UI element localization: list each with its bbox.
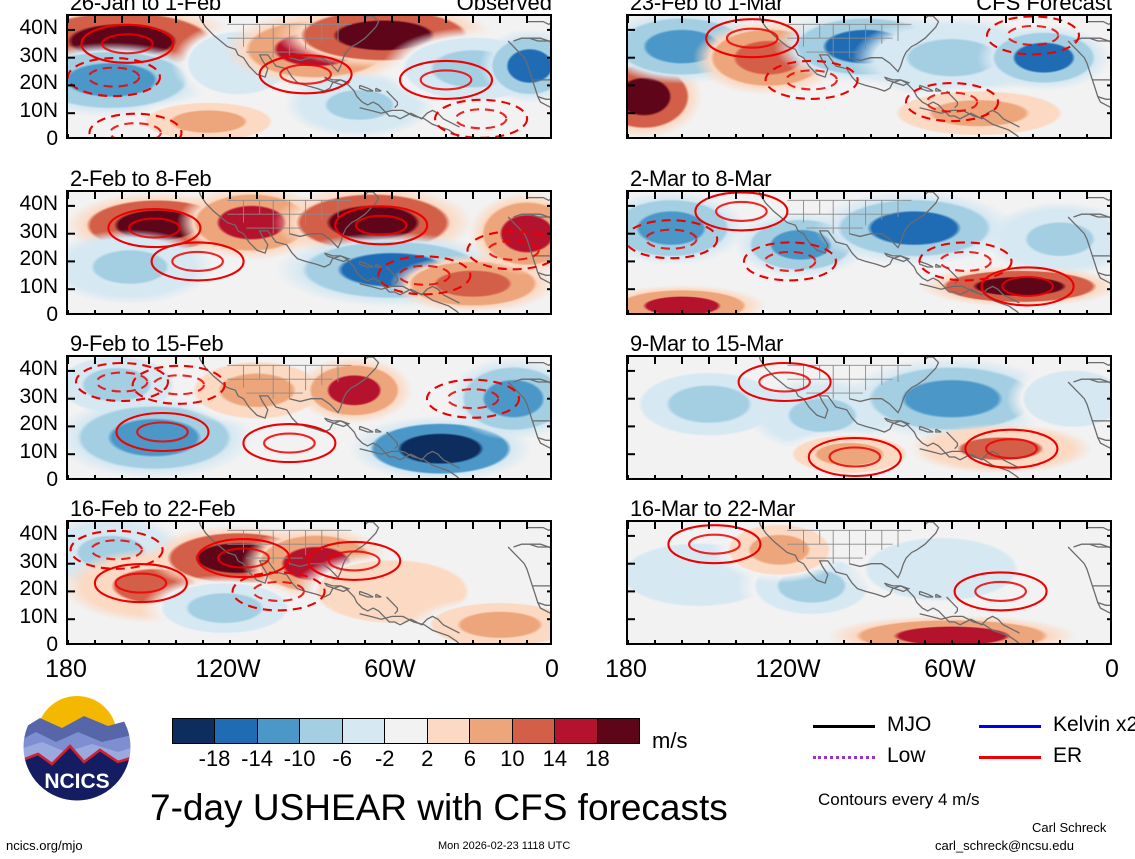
shading-layer [628, 522, 1112, 645]
y-tick-label: 10N [0, 440, 58, 464]
site-url[interactable]: ncics.org/mjo [6, 838, 83, 853]
author-name: Carl Schreck [1032, 820, 1106, 835]
colorbar-swatch [214, 719, 256, 743]
map-panel [66, 520, 552, 645]
map-panel [66, 355, 552, 480]
x-tick-label: 60W [330, 655, 450, 684]
panel-title: 2-Mar to 8-Mar [630, 166, 771, 192]
legend-line-er [979, 756, 1041, 759]
colorbar-swatch [384, 719, 426, 743]
map-panel [626, 355, 1112, 480]
colorbar-swatch [173, 719, 214, 743]
x-tick-label: 60W [890, 655, 1010, 684]
author-email[interactable]: carl_schreck@ncsu.edu [935, 838, 1074, 853]
legend-line-mjo [813, 725, 875, 728]
x-tick-label: 0 [1052, 655, 1135, 684]
shading-layer [628, 16, 1112, 139]
contour-note: Contours every 4 m/s [818, 790, 980, 810]
map-field [628, 192, 1112, 315]
y-tick-label: 30N [0, 385, 58, 409]
panel-title: 16-Mar to 22-Mar [630, 496, 795, 522]
y-tick-label: 20N [0, 577, 58, 601]
colorbar-units: m/s [652, 728, 687, 754]
x-tick-label: 120W [168, 655, 288, 684]
legend-label-er: ER [1053, 744, 1082, 768]
map-field [68, 192, 552, 315]
y-tick-label: 30N [0, 220, 58, 244]
legend-label-kelvin-x2: Kelvin x2 [1053, 713, 1135, 737]
y-tick-label: 10N [0, 275, 58, 299]
map-field [628, 16, 1112, 139]
render-timestamp: Mon 2026-02-23 1118 UTC [438, 840, 570, 852]
ncics-logo[interactable]: NCICS [22, 692, 132, 802]
panel-title: 9-Feb to 15-Feb [70, 331, 223, 357]
colorbar-swatch [554, 719, 596, 743]
colorbar-swatch [427, 719, 469, 743]
y-tick-label: 20N [0, 412, 58, 436]
shading-layer [68, 16, 552, 139]
colorbar-swatch [597, 719, 639, 743]
legend-label-low: Low [887, 744, 926, 768]
legend-line-low [813, 756, 875, 759]
colorbar-swatch [342, 719, 384, 743]
map-panel [626, 190, 1112, 315]
map-panel [626, 14, 1112, 139]
y-tick-label: 40N [0, 192, 58, 216]
y-tick-label: 20N [0, 71, 58, 95]
y-tick-label: 0 [0, 303, 58, 327]
map-panel [66, 190, 552, 315]
map-panel [66, 14, 552, 139]
y-tick-label: 0 [0, 633, 58, 657]
y-tick-label: 20N [0, 247, 58, 271]
map-panel [626, 520, 1112, 645]
colorbar-swatch [469, 719, 511, 743]
panel-title: 9-Mar to 15-Mar [630, 331, 783, 357]
y-tick-label: 30N [0, 550, 58, 574]
panel-title: 16-Feb to 22-Feb [70, 496, 235, 522]
x-tick-label: 120W [728, 655, 848, 684]
y-tick-label: 40N [0, 522, 58, 546]
y-tick-label: 10N [0, 605, 58, 629]
ncics-logo-graphic: NCICS [22, 692, 132, 802]
colorbar-swatch [257, 719, 299, 743]
y-tick-label: 40N [0, 16, 58, 40]
map-field [68, 522, 552, 645]
y-tick-label: 30N [0, 44, 58, 68]
legend-label-mjo: MJO [887, 713, 931, 737]
colorbar-tick-label: 18 [567, 746, 627, 772]
figure-title: 7-day USHEAR with CFS forecasts [150, 787, 728, 829]
legend-line-kelvin-x2 [979, 725, 1041, 728]
map-field [628, 522, 1112, 645]
ncics-logo-label: NCICS [44, 770, 109, 793]
colorbar [172, 718, 640, 744]
map-field [68, 16, 552, 139]
map-field [68, 357, 552, 480]
colorbar-swatch [512, 719, 554, 743]
map-field [628, 357, 1112, 480]
x-tick-label: 180 [566, 655, 686, 684]
y-tick-label: 0 [0, 468, 58, 492]
colorbar-swatch [299, 719, 341, 743]
y-tick-label: 10N [0, 99, 58, 123]
x-tick-label: 180 [6, 655, 126, 684]
shading-layer [628, 357, 1112, 480]
y-tick-label: 0 [0, 127, 58, 151]
shading-layer [68, 522, 552, 645]
panel-title: 2-Feb to 8-Feb [70, 166, 211, 192]
y-tick-label: 40N [0, 357, 58, 381]
